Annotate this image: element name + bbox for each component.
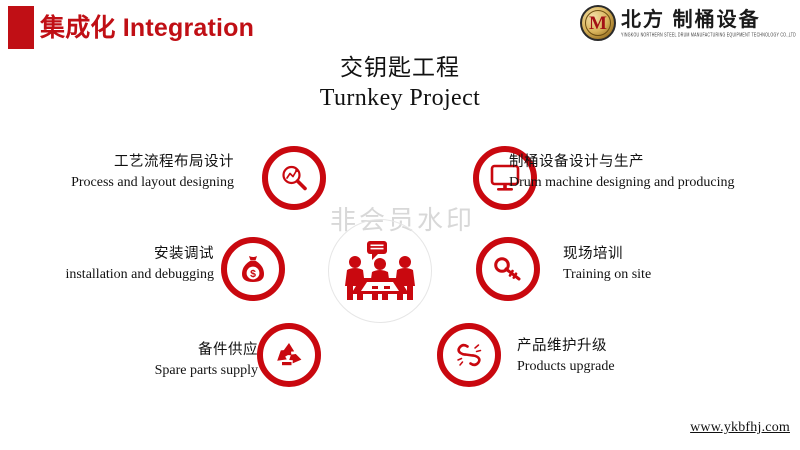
main-title-en: Turnkey Project <box>0 83 800 114</box>
slide-canvas: 集成化 Integration M 北方 制桶设备 YINGKOU NORTHE… <box>0 0 800 450</box>
label-cn: 工艺流程布局设计 <box>71 152 234 173</box>
label-en: Training on site <box>563 265 651 285</box>
label-cn: 产品维护升级 <box>517 336 615 357</box>
label-en: installation and debugging <box>65 265 214 285</box>
label-products-upgrade: 产品维护升级 Products upgrade <box>517 336 615 377</box>
svg-text:$: $ <box>250 268 256 280</box>
magnifier-chart-icon <box>279 163 309 193</box>
node-installation-and-debugging[interactable]: $ <box>221 237 285 301</box>
label-en: Products upgrade <box>517 357 615 377</box>
label-spare-parts-supply: 备件供应 Spare parts supply <box>155 340 258 381</box>
label-cn: 备件供应 <box>155 340 258 361</box>
meeting-table-icon <box>341 240 419 302</box>
logo-badge-icon: M <box>580 5 616 41</box>
label-en: Process and layout designing <box>71 173 234 193</box>
label-installation-and-debugging: 安装调试 installation and debugging <box>65 244 214 285</box>
footer-website-link[interactable]: www.ykbfhj.com <box>690 420 790 436</box>
main-title: 交钥匙工程 Turnkey Project <box>0 52 800 114</box>
recycle-icon <box>274 341 304 369</box>
logo-badge-letter: M <box>589 14 607 33</box>
label-training-on-site: 现场培训 Training on site <box>563 244 651 285</box>
label-en: Spare parts supply <box>155 361 258 381</box>
logo-company-name-en: YINGKOU NORTHERN STEEL DRUM MANUFACTURIN… <box>621 32 796 38</box>
header-accent-bar <box>8 6 34 49</box>
label-cn: 安装调试 <box>65 244 214 265</box>
company-logo: M 北方 制桶设备 YINGKOU NORTHERN STEEL DRUM MA… <box>580 2 796 44</box>
broken-link-icon <box>455 341 483 369</box>
label-process-and-layout-designing: 工艺流程布局设计 Process and layout designing <box>71 152 234 193</box>
center-hub <box>328 219 432 323</box>
logo-text-block: 北方 制桶设备 YINGKOU NORTHERN STEEL DRUM MANU… <box>621 10 796 36</box>
node-process-and-layout-designing[interactable] <box>262 146 326 210</box>
node-products-upgrade[interactable] <box>437 323 501 387</box>
page-title: 集成化 Integration <box>40 8 254 44</box>
label-cn: 制桶设备设计与生产 <box>509 152 735 173</box>
label-en: Drum machine designing and producing <box>509 173 735 193</box>
label-cn: 现场培训 <box>563 244 651 265</box>
main-title-cn: 交钥匙工程 <box>0 52 800 83</box>
key-icon <box>493 255 523 283</box>
label-drum-machine-designing-and-producing: 制桶设备设计与生产 Drum machine designing and pro… <box>509 152 735 193</box>
node-spare-parts-supply[interactable] <box>257 323 321 387</box>
logo-company-name-cn: 北方 制桶设备 <box>621 10 796 31</box>
node-training-on-site[interactable] <box>476 237 540 301</box>
money-bag-icon: $ <box>239 254 267 284</box>
